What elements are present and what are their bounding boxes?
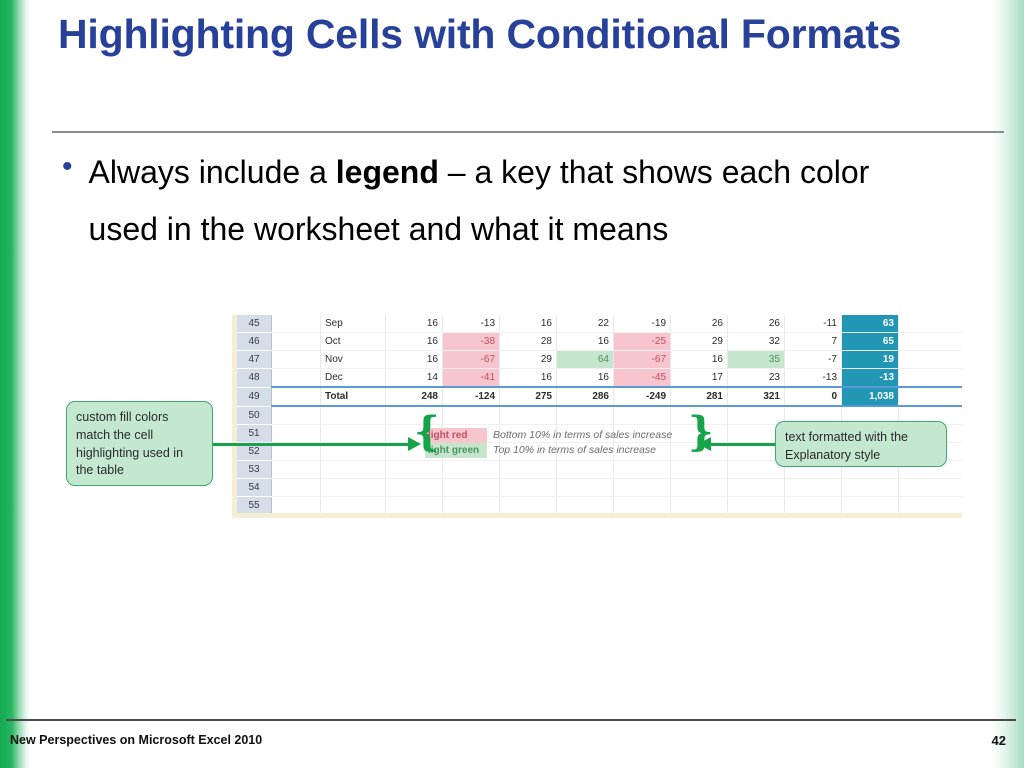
spreadsheet-cell[interactable]: 17 xyxy=(671,369,728,388)
spreadsheet-table: 45Sep16-131622-192626-116346Oct16-382816… xyxy=(237,315,962,515)
spreadsheet-cell[interactable] xyxy=(899,369,963,388)
spreadsheet-cell[interactable] xyxy=(785,497,842,515)
spreadsheet-cell[interactable] xyxy=(671,497,728,515)
spreadsheet-cell[interactable]: -13 xyxy=(842,369,899,388)
spreadsheet-cell[interactable] xyxy=(443,406,500,425)
table-row: 54 xyxy=(237,479,962,497)
spreadsheet-cell[interactable] xyxy=(386,497,443,515)
footer-divider xyxy=(6,719,1016,721)
spreadsheet-cell[interactable]: 0 xyxy=(785,387,842,406)
connector-line-left xyxy=(212,443,417,446)
spreadsheet-cell[interactable]: -38 xyxy=(443,333,500,351)
spreadsheet-cell[interactable] xyxy=(272,387,321,406)
spreadsheet-cell[interactable] xyxy=(386,461,443,479)
spreadsheet-cell[interactable] xyxy=(500,479,557,497)
spreadsheet-cell[interactable]: 65 xyxy=(842,333,899,351)
legend-row: light green Top 10% in terms of sales in… xyxy=(425,443,689,458)
table-row: 45Sep16-131622-192626-1163 xyxy=(237,315,962,333)
spreadsheet-cell[interactable]: 248 xyxy=(386,387,443,406)
spreadsheet-cell[interactable] xyxy=(557,461,614,479)
row-header-49[interactable]: 49 xyxy=(237,387,272,406)
spreadsheet-cell[interactable] xyxy=(899,351,963,369)
spreadsheet-cell[interactable]: -45 xyxy=(614,369,671,388)
spreadsheet-cell[interactable] xyxy=(272,497,321,515)
spreadsheet-cell[interactable]: -249 xyxy=(614,387,671,406)
spreadsheet-cell[interactable] xyxy=(321,461,386,479)
spreadsheet-cell[interactable] xyxy=(272,369,321,388)
spreadsheet-cell[interactable] xyxy=(443,461,500,479)
spreadsheet-cell[interactable]: 19 xyxy=(842,351,899,369)
spreadsheet-cell[interactable]: 35 xyxy=(728,351,785,369)
spreadsheet-cell[interactable]: 16 xyxy=(557,369,614,388)
row-header-54[interactable]: 54 xyxy=(237,479,272,497)
spreadsheet-cell[interactable] xyxy=(443,497,500,515)
spreadsheet-cell[interactable] xyxy=(443,479,500,497)
spreadsheet-cell[interactable] xyxy=(321,425,386,443)
spreadsheet-cell[interactable] xyxy=(842,479,899,497)
footer-page-number: 42 xyxy=(992,733,1006,748)
legend-description-light-green: Top 10% in terms of sales increase xyxy=(487,443,689,458)
spreadsheet-cell[interactable] xyxy=(500,461,557,479)
spreadsheet-cell[interactable] xyxy=(500,406,557,425)
spreadsheet-cell[interactable] xyxy=(671,479,728,497)
right-decorative-gradient-bar xyxy=(990,0,1024,768)
table-row: 47Nov16-672964-671635-719 xyxy=(237,351,962,369)
callout-explanatory-style: text formatted with the Explanatory styl… xyxy=(775,421,947,467)
spreadsheet-cell[interactable] xyxy=(272,406,321,425)
spreadsheet-cell[interactable] xyxy=(272,461,321,479)
table-row: 55 xyxy=(237,497,962,515)
spreadsheet-cell[interactable]: 286 xyxy=(557,387,614,406)
bullet-text-pre: Always include a xyxy=(89,154,336,190)
spreadsheet-cell-label[interactable]: Oct xyxy=(321,333,386,351)
spreadsheet-cell-label[interactable]: Nov xyxy=(321,351,386,369)
spreadsheet-cell[interactable] xyxy=(899,479,963,497)
spreadsheet-cell[interactable] xyxy=(272,479,321,497)
spreadsheet-cell[interactable]: -124 xyxy=(443,387,500,406)
row-header-45[interactable]: 45 xyxy=(237,315,272,333)
spreadsheet-figure: 45Sep16-131622-192626-116346Oct16-382816… xyxy=(232,315,962,518)
spreadsheet-cell[interactable]: 1,038 xyxy=(842,387,899,406)
spreadsheet-cell[interactable] xyxy=(899,315,963,333)
spreadsheet-cell[interactable] xyxy=(614,406,671,425)
spreadsheet-cell[interactable]: -67 xyxy=(614,351,671,369)
spreadsheet-cell[interactable] xyxy=(728,479,785,497)
spreadsheet-cell[interactable]: -13 xyxy=(785,369,842,388)
spreadsheet-cell[interactable]: 22 xyxy=(557,315,614,333)
spreadsheet-cell[interactable]: -7 xyxy=(785,351,842,369)
spreadsheet-cell[interactable]: 281 xyxy=(671,387,728,406)
left-decorative-gradient-bar xyxy=(0,0,30,768)
spreadsheet-cell[interactable] xyxy=(272,425,321,443)
spreadsheet-cell[interactable]: -41 xyxy=(443,369,500,388)
spreadsheet-cell[interactable] xyxy=(614,479,671,497)
spreadsheet-cell[interactable] xyxy=(899,497,963,515)
spreadsheet-cell[interactable]: 7 xyxy=(785,333,842,351)
spreadsheet-cell[interactable] xyxy=(321,406,386,425)
spreadsheet-cell[interactable] xyxy=(557,497,614,515)
spreadsheet-cell[interactable]: 16 xyxy=(386,333,443,351)
spreadsheet-cell[interactable]: 14 xyxy=(386,369,443,388)
spreadsheet-cell[interactable]: -11 xyxy=(785,315,842,333)
spreadsheet-cell[interactable]: 16 xyxy=(500,315,557,333)
spreadsheet-cell[interactable] xyxy=(272,315,321,333)
bullet-text: Always include a legend – a key that sho… xyxy=(89,144,934,258)
bullet-dot-icon: • xyxy=(62,152,73,182)
spreadsheet-cell[interactable] xyxy=(899,387,963,406)
spreadsheet-cell[interactable]: 16 xyxy=(386,351,443,369)
spreadsheet-cell[interactable] xyxy=(557,406,614,425)
spreadsheet-cell[interactable] xyxy=(272,333,321,351)
spreadsheet-cell[interactable]: 29 xyxy=(671,333,728,351)
spreadsheet-cell[interactable]: 23 xyxy=(728,369,785,388)
spreadsheet-cell-label[interactable]: Sep xyxy=(321,315,386,333)
legend-brace-right-icon: } xyxy=(688,417,714,447)
spreadsheet-cell[interactable]: 32 xyxy=(728,333,785,351)
spreadsheet-cell[interactable] xyxy=(321,479,386,497)
row-header-55[interactable]: 55 xyxy=(237,497,272,515)
spreadsheet-cell[interactable]: 16 xyxy=(557,333,614,351)
title-divider xyxy=(52,131,1004,133)
spreadsheet-cell[interactable] xyxy=(842,497,899,515)
spreadsheet-cell[interactable] xyxy=(272,351,321,369)
row-header-51[interactable]: 51 xyxy=(237,425,272,443)
spreadsheet-cell[interactable]: 16 xyxy=(671,351,728,369)
spreadsheet-cell-label[interactable]: Total xyxy=(321,387,386,406)
table-row: 46Oct16-382816-252932765 xyxy=(237,333,962,351)
spreadsheet-cell[interactable] xyxy=(671,461,728,479)
footer-source: New Perspectives on Microsoft Excel 2010 xyxy=(10,733,262,747)
spreadsheet-cell[interactable]: -13 xyxy=(443,315,500,333)
spreadsheet-cell[interactable]: 321 xyxy=(728,387,785,406)
spreadsheet-cell[interactable] xyxy=(500,497,557,515)
spreadsheet-cell[interactable] xyxy=(728,497,785,515)
row-header-50[interactable]: 50 xyxy=(237,406,272,425)
spreadsheet-cell[interactable] xyxy=(785,479,842,497)
legend-brace-left-icon: { xyxy=(414,417,440,447)
spreadsheet-cell[interactable] xyxy=(614,461,671,479)
spreadsheet-cell[interactable] xyxy=(321,497,386,515)
slide-title: Highlighting Cells with Conditional Form… xyxy=(58,8,958,61)
spreadsheet-cell[interactable] xyxy=(557,479,614,497)
row-header-47[interactable]: 47 xyxy=(237,351,272,369)
spreadsheet-cell-label[interactable]: Dec xyxy=(321,369,386,388)
spreadsheet-cell[interactable]: 26 xyxy=(728,315,785,333)
legend-description-light-red: Bottom 10% in terms of sales increase xyxy=(487,428,689,443)
row-header-53[interactable]: 53 xyxy=(237,461,272,479)
legend-row: light red Bottom 10% in terms of sales i… xyxy=(425,428,689,443)
bullet-text-bold: legend xyxy=(336,154,439,190)
row-header-48[interactable]: 48 xyxy=(237,369,272,388)
bullet-item: • Always include a legend – a key that s… xyxy=(62,144,962,258)
spreadsheet-cell[interactable] xyxy=(899,333,963,351)
spreadsheet-cell[interactable]: -67 xyxy=(443,351,500,369)
row-header-46[interactable]: 46 xyxy=(237,333,272,351)
conditional-format-legend: light red Bottom 10% in terms of sales i… xyxy=(425,428,689,458)
spreadsheet-cell[interactable]: 26 xyxy=(671,315,728,333)
table-row: 49Total248-124275286-24928132101,038 xyxy=(237,387,962,406)
spreadsheet-cell[interactable]: 28 xyxy=(500,333,557,351)
spreadsheet-cell[interactable]: -25 xyxy=(614,333,671,351)
spreadsheet-cell[interactable] xyxy=(614,497,671,515)
spreadsheet-cell[interactable]: 63 xyxy=(842,315,899,333)
spreadsheet-cell[interactable]: 16 xyxy=(500,369,557,388)
spreadsheet-cell[interactable]: 64 xyxy=(557,351,614,369)
callout-custom-fill-colors: custom fill colors match the cell highli… xyxy=(66,401,213,486)
table-row: 48Dec14-411616-451723-13-13 xyxy=(237,369,962,388)
spreadsheet-cell[interactable] xyxy=(728,406,785,425)
spreadsheet-cell[interactable]: 16 xyxy=(386,315,443,333)
spreadsheet-cell[interactable] xyxy=(386,479,443,497)
spreadsheet-cell[interactable]: 275 xyxy=(500,387,557,406)
spreadsheet-cell[interactable]: 29 xyxy=(500,351,557,369)
spreadsheet-cell[interactable]: -19 xyxy=(614,315,671,333)
